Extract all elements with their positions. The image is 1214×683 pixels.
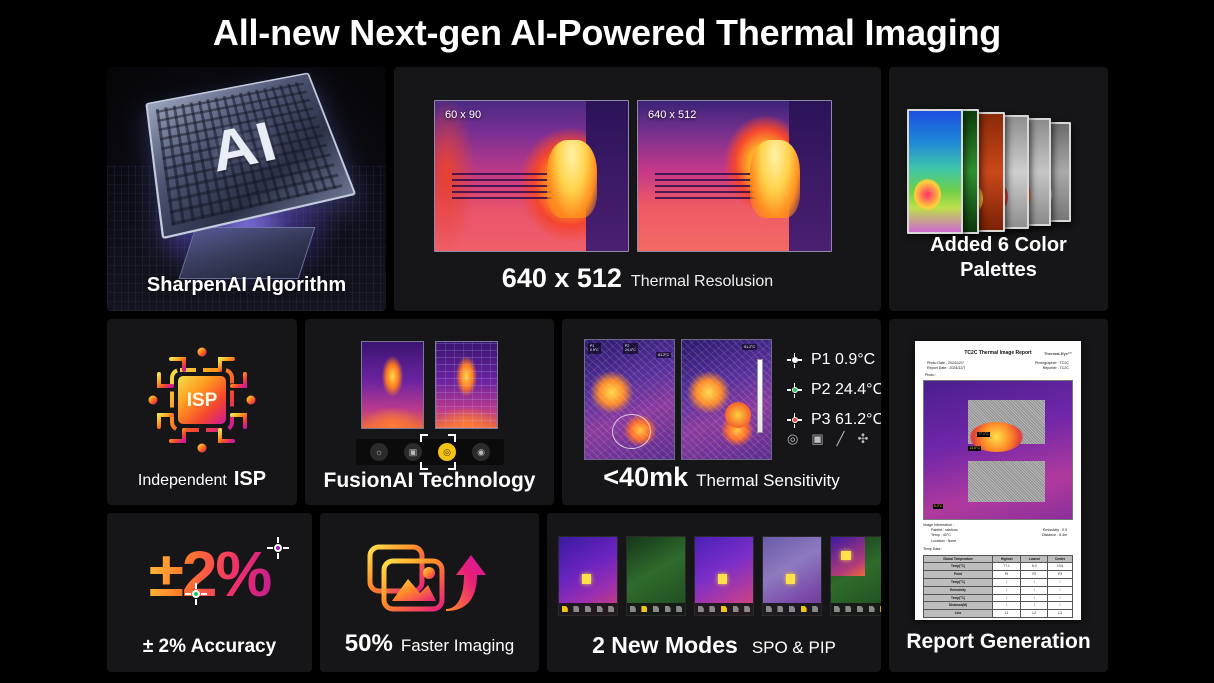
resolution-label-high: 640 x 512	[648, 109, 696, 121]
mode-selector-bar[interactable]	[695, 603, 753, 615]
mode-selector-bar[interactable]	[763, 603, 821, 615]
card-color-palettes[interactable]: Added 6 Color Palettes	[889, 67, 1108, 311]
table-row: Temp(°C)///	[924, 594, 1073, 602]
report-date-value: 2024/12/7	[949, 366, 965, 370]
photographer-value: TC2C	[1060, 361, 1069, 365]
thermal-person	[547, 140, 597, 218]
report-panel-lower	[968, 461, 1045, 502]
table-cell: P3	[1048, 571, 1073, 579]
isp-value: ISP	[234, 468, 266, 490]
table-body: Temp(°C)77.15.013.5PointP1P2P3Temp(°C)//…	[924, 563, 1073, 618]
table-cell: 13.5	[1048, 563, 1073, 571]
temp-value: 40°C	[943, 533, 951, 537]
mode-thumbnail-strip	[558, 536, 881, 616]
resolution-value: 640 x 512	[502, 263, 622, 293]
palette-value: rainbow	[945, 528, 958, 532]
faster-value: 50%	[345, 630, 393, 657]
modes-text: SPO & PIP	[752, 638, 836, 657]
fusion-thumbnail-enhanced	[435, 341, 498, 429]
fusion-thermal-image-detail	[436, 342, 497, 428]
fusion-thumbnail-plain	[361, 341, 424, 429]
table-row: Temp(°C)77.15.013.5	[924, 563, 1073, 571]
crosshair-icon	[787, 383, 802, 398]
table-cell: /	[993, 602, 1021, 610]
table-row: PointP1P2P3	[924, 571, 1073, 579]
table-cell: /	[1021, 586, 1048, 594]
card-new-modes[interactable]: 2 New ModesSPO & PIP	[547, 513, 881, 672]
thermal-only-icon[interactable]: ◉	[472, 443, 490, 461]
isp-prefix: Independent	[138, 472, 227, 489]
sensitivity-roi-circle	[612, 414, 651, 450]
image-stack-arrow-icon	[364, 539, 496, 617]
report-date-label: Report Date :	[927, 366, 948, 370]
crosshair-icon	[787, 413, 802, 428]
report-mid-temp: 13.5°C	[968, 446, 980, 451]
measurement-point-row: P1 0.9°C	[787, 345, 881, 375]
table-header-cell: Global Temperature	[924, 555, 993, 563]
svg-text:ISP: ISP	[187, 390, 218, 411]
palettes-line-2: Palettes	[889, 258, 1108, 283]
table-cell: /	[1021, 602, 1048, 610]
card-report-generation[interactable]: Thermal-Eye™ TC2C Thermal Image Report P…	[889, 319, 1108, 672]
card-caption-report: Report Generation	[889, 630, 1108, 654]
card-fusionai-technology[interactable]: ☼ ▣ ◎ ◉ FusionAI Technology	[305, 319, 554, 505]
mode-selector-bar[interactable]	[831, 603, 881, 615]
palette-stack	[907, 109, 1093, 234]
report-cold-temp: 5.0°C	[933, 504, 944, 509]
reporter-label: Reporter :	[1043, 366, 1059, 370]
sensitivity-readout-2: P224.4°C	[623, 343, 638, 354]
temperature-scale-slider[interactable]	[757, 359, 763, 433]
image-info-row-3: Location : None	[931, 539, 1073, 544]
table-cell: /	[1048, 602, 1073, 610]
table-row: Distance(M)///	[924, 602, 1073, 610]
thermal-thumbnail-high-res: 640 x 512	[637, 100, 832, 252]
photo-label: Photo :	[925, 373, 1073, 378]
mode-hotspot	[786, 574, 795, 583]
card-caption-sharpenai: SharpenAI Algorithm	[107, 274, 386, 297]
table-cell: /	[993, 594, 1021, 602]
promo-page: All-new Next-gen AI-Powered Thermal Imag…	[0, 0, 1214, 683]
reporter-value: TC2C	[1060, 366, 1069, 370]
table-header-row: Global Temperature Highest Lowest Center	[924, 555, 1073, 563]
table-cell: Point	[924, 571, 993, 579]
mode-thumbnail[interactable]	[694, 536, 754, 616]
page-title: All-new Next-gen AI-Powered Thermal Imag…	[0, 12, 1214, 54]
crosshair-icon-purple	[267, 537, 289, 559]
measurement-point-list: P1 0.9°C P2 24.4°C P3 61.2°C	[787, 345, 881, 435]
table-cell: L3	[1048, 610, 1073, 618]
table-cell: /	[1048, 579, 1073, 587]
table-cell: /	[1048, 594, 1073, 602]
table-row: Emissivity///	[924, 586, 1073, 594]
table-header-cell: Lowest	[1021, 555, 1048, 563]
emissivity-value: 0.9	[1062, 528, 1067, 532]
point-label-2: P2	[811, 381, 831, 399]
card-caption-resolution: 640 x 512Thermal Resolusion	[394, 263, 881, 294]
table-cell: /	[1021, 579, 1048, 587]
table-cell: Distance(M)	[924, 602, 993, 610]
card-caption-accuracy: ± 2% Accuracy	[107, 636, 312, 658]
card-caption-faster: 50%Faster Imaging	[320, 630, 539, 658]
table-cell: Line	[924, 610, 993, 618]
card-sharpenai-algorithm[interactable]: AI SharpenAI Algorithm	[107, 67, 386, 311]
resolution-label-low: 60 x 90	[445, 109, 481, 121]
point-icon[interactable]: ✣	[857, 431, 868, 447]
measurement-tool-bar[interactable]: ◎ ▣ ╱ ✣ ▤	[787, 431, 881, 447]
photo-date-label: Photo Date :	[927, 361, 947, 365]
card-caption-isp: IndependentISP	[107, 468, 297, 491]
brightness-icon[interactable]: ☼	[370, 443, 388, 461]
sensitivity-thumbnail-right: 61.2°C	[681, 339, 772, 460]
mode-hotspot	[718, 574, 727, 583]
location-value: None	[948, 539, 957, 543]
palette-swatch-1	[907, 109, 963, 234]
table-cell: P2	[1021, 571, 1048, 579]
palettes-line-1: Added 6 Color	[889, 233, 1108, 258]
thermal-report-document: Thermal-Eye™ TC2C Thermal Image Report P…	[915, 341, 1081, 620]
photo-date-value: 2024/12/7	[948, 361, 964, 365]
table-row: Temp(°C)///	[924, 579, 1073, 587]
focus-bracket	[420, 434, 456, 470]
mode-hotspot	[841, 551, 850, 560]
palette-label: Palette :	[931, 528, 944, 532]
table-header-cell: Highest	[993, 555, 1021, 563]
mode-thumbnail[interactable]	[626, 536, 686, 616]
table-cell: Emissivity	[924, 586, 993, 594]
point-label-1: P1	[811, 351, 831, 369]
table-cell: Temp(°C)	[924, 563, 993, 571]
fusion-thermal-image	[362, 342, 423, 428]
card-accuracy[interactable]: ±2% ± 2% Accuracy	[107, 513, 312, 672]
table-cell: /	[1021, 594, 1048, 602]
isp-chip-icon: ISP	[143, 341, 261, 459]
card-thermal-sensitivity[interactable]: P10.9°C P224.4°C 61.2°C 61.2°C P1 0.9°C …	[562, 319, 881, 505]
mode-selector-bar[interactable]	[559, 603, 617, 615]
sensitivity-readout-1: P10.9°C	[588, 343, 601, 354]
report-hot-temp: 77.1°C	[977, 432, 989, 437]
faster-text: Faster Imaging	[401, 636, 514, 655]
card-caption-modes: 2 New ModesSPO & PIP	[547, 632, 881, 659]
thermal-thumbnail-low-res: 60 x 90	[434, 100, 629, 252]
modes-value: 2 New Modes	[592, 632, 738, 658]
mode-thumbnail[interactable]	[762, 536, 822, 616]
card-thermal-resolution[interactable]: 60 x 90 640 x 512 640 x 512Thermal Resol…	[394, 67, 881, 311]
crosshair-icon-green	[185, 583, 207, 605]
mode-thumbnail-pip[interactable]	[830, 536, 881, 616]
point-value-2: 24.4°C	[835, 381, 881, 399]
line-icon[interactable]: ╱	[837, 431, 845, 447]
crosshair-icon	[787, 353, 802, 368]
temp-data-label: Temp Data :	[923, 547, 1073, 552]
table-row: LineL1L2L3	[924, 610, 1073, 618]
temp-label: Temp :	[931, 533, 942, 537]
table-cell: Temp(°C)	[924, 579, 993, 587]
point-label-3: P3	[811, 411, 831, 429]
point-value-3: 61.2°C	[835, 411, 881, 429]
measurement-point-row: P2 24.4°C	[787, 375, 881, 405]
mode-hotspot	[582, 574, 591, 583]
table-cell: /	[1048, 586, 1073, 594]
card-independent-isp[interactable]: ISP IndependentISP	[107, 319, 297, 505]
table-header-cell: Center	[1048, 555, 1073, 563]
table-cell: 77.1	[993, 563, 1021, 571]
table-cell: 5.0	[1021, 563, 1048, 571]
square-grid-icon[interactable]: ▣	[811, 431, 823, 447]
distance-value: 5.4m	[1059, 533, 1067, 537]
table-cell: /	[993, 579, 1021, 587]
table-cell: P1	[993, 571, 1021, 579]
point-value-1: 0.9°C	[835, 351, 875, 369]
sensitivity-value: <40mk	[603, 462, 688, 492]
thermal-person	[750, 140, 800, 218]
sensitivity-readout-max: 61.2°C	[742, 344, 757, 350]
location-label: Location :	[931, 539, 947, 543]
report-temperature-table: Global Temperature Highest Lowest Center…	[923, 555, 1073, 618]
card-faster-imaging[interactable]: 50%Faster Imaging	[320, 513, 539, 672]
table-cell: /	[993, 586, 1021, 594]
card-caption-fusion: FusionAI Technology	[305, 469, 554, 493]
mode-thumbnail[interactable]	[558, 536, 618, 616]
card-caption-sensitivity: <40mkThermal Sensitivity	[562, 462, 881, 493]
resolution-text: Thermal Resolusion	[631, 273, 773, 290]
emissivity-label: Emissivity :	[1043, 528, 1061, 532]
sensitivity-thumbnail-left: P10.9°C P224.4°C 61.2°C	[584, 339, 675, 460]
circle-grid-icon[interactable]: ◎	[787, 431, 798, 447]
distance-label: Distance :	[1042, 533, 1058, 537]
card-caption-palettes: Added 6 Color Palettes	[889, 233, 1108, 283]
palette-hotspot	[914, 179, 941, 210]
table-cell: L1	[993, 610, 1021, 618]
table-cell: Temp(°C)	[924, 594, 993, 602]
report-meta-row-2: Report Date : 2024/12/7 Reporter : TC2C	[923, 366, 1073, 371]
table-cell: L2	[1021, 610, 1048, 618]
mode-selector-bar[interactable]	[627, 603, 685, 615]
chip-socket	[178, 227, 315, 279]
sensitivity-text: Thermal Sensitivity	[696, 471, 840, 490]
report-thermal-image: 77.1°C 13.5°C 5.0°C	[923, 380, 1073, 520]
sensitivity-readout-3: 61.2°C	[656, 352, 671, 358]
photographer-label: Photographer :	[1035, 361, 1059, 365]
report-brand: Thermal-Eye™	[1044, 351, 1072, 357]
